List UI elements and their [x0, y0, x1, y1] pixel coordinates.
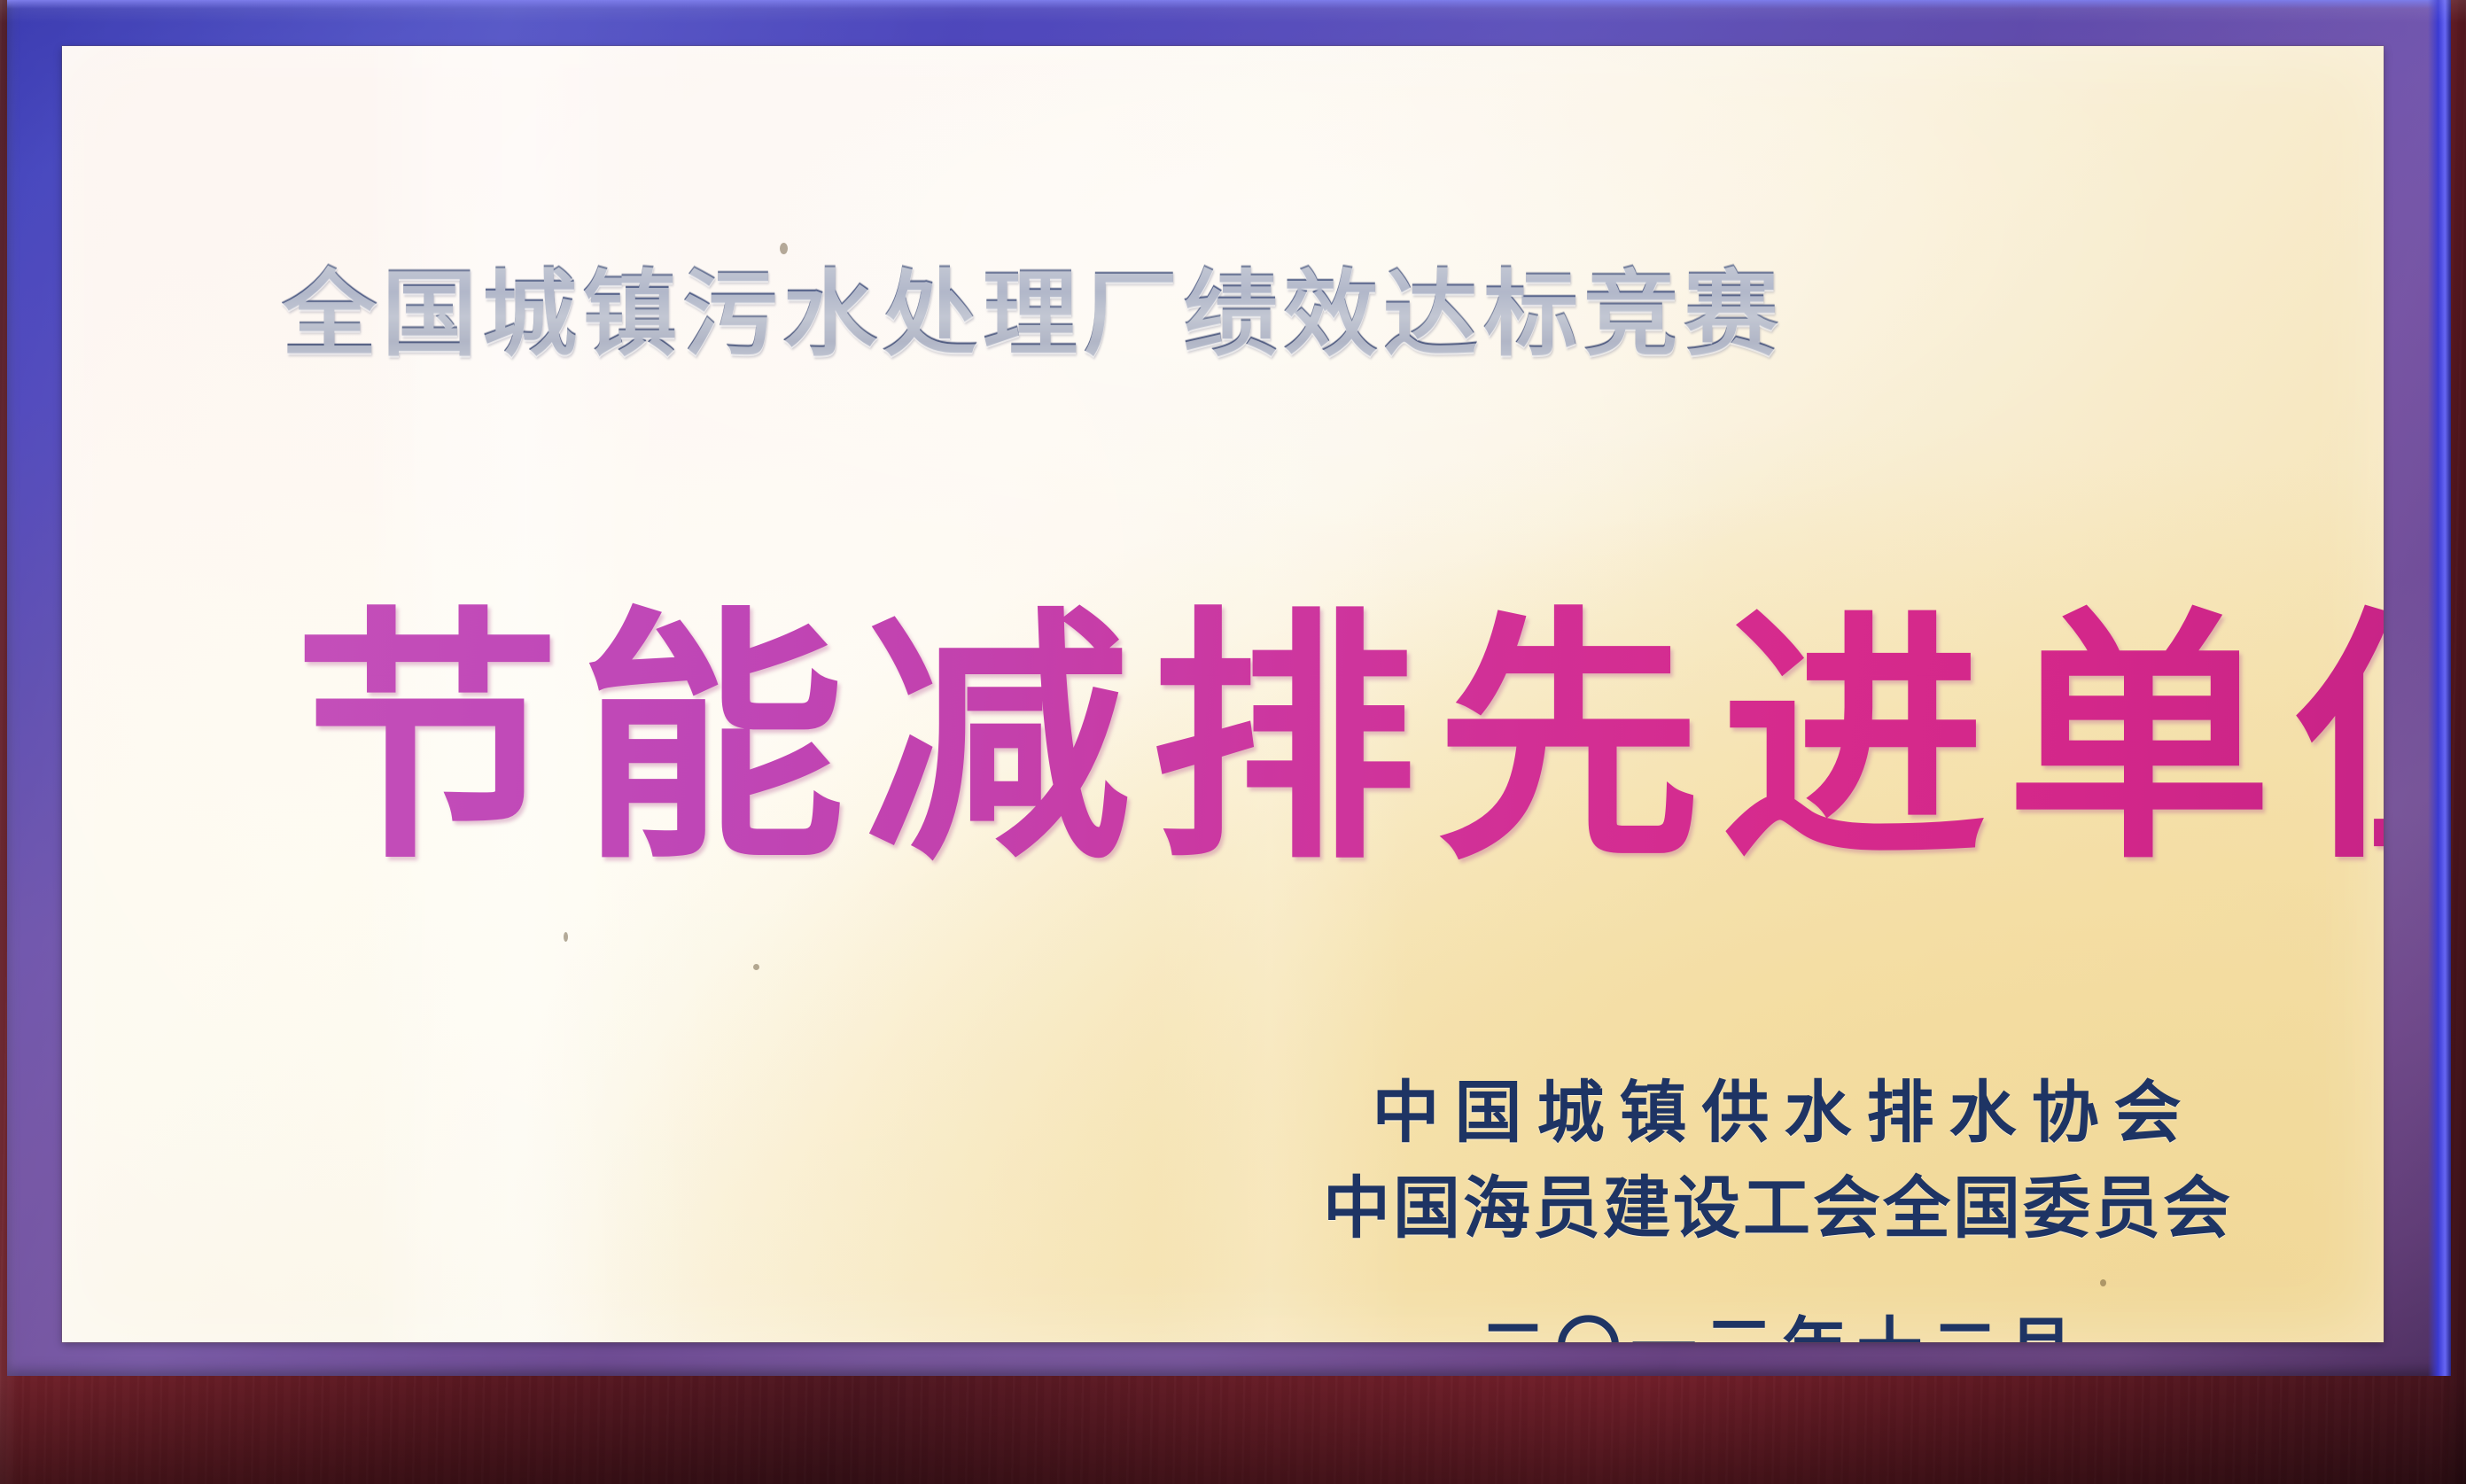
issuer-organization-primary: 中国城镇供水排水协会 [1320, 1065, 2233, 1161]
mat-top-edge-highlight [7, 0, 2451, 9]
award-title: 节能减排先进单位 [294, 602, 2384, 879]
issuer-organization-secondary: 中国海员建设工会全国委员会 [1320, 1161, 2233, 1256]
certificate-panel: 全国城镇污水处理厂绩效达标竞赛 节能减排先进单位 中国城镇供水排水协会 中国海员… [62, 46, 2384, 1342]
issuer-signature-block: 中国城镇供水排水协会 中国海员建设工会全国委员会 二〇一三年十二月 [1320, 1065, 2233, 1342]
mat-right-edge-highlight [2428, 0, 2451, 1376]
competition-header: 全国城镇污水处理厂绩效达标竞赛 [282, 259, 1784, 370]
surface-speck [753, 964, 759, 970]
inner-mat-border: 全国城镇污水处理厂绩效达标竞赛 节能减排先进单位 中国城镇供水排水协会 中国海员… [7, 0, 2451, 1376]
award-plaque: 全国城镇污水处理厂绩效达标竞赛 节能减排先进单位 中国城镇供水排水协会 中国海员… [0, 0, 2466, 1484]
surface-speck [564, 932, 568, 942]
issue-date: 二〇一三年十二月 [1320, 1302, 2233, 1342]
surface-speck [780, 243, 788, 254]
